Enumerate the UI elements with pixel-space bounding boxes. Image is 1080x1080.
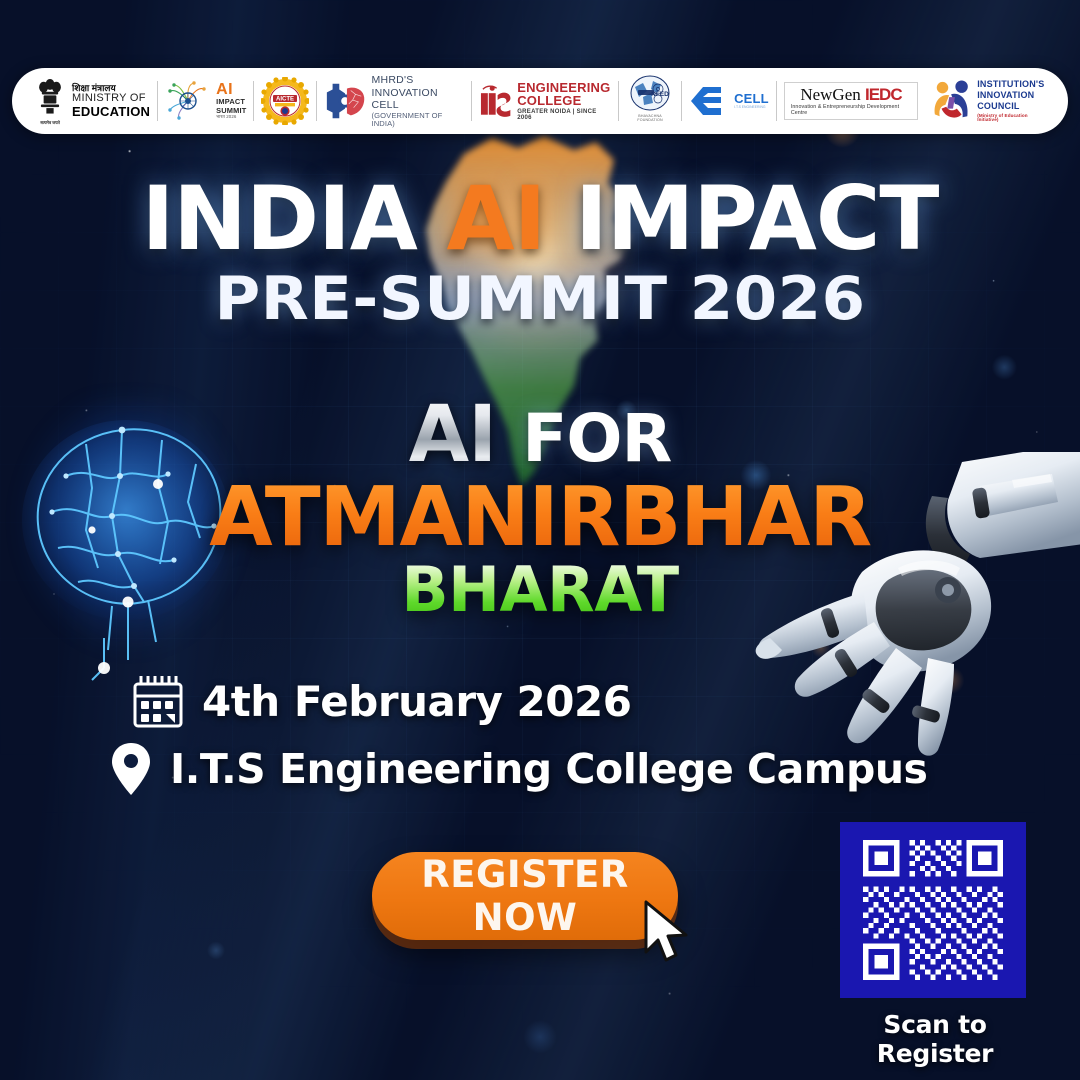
event-venue-row: I.T.S Engineering College Campus: [108, 740, 950, 798]
nfed-label: NFED: [651, 91, 669, 98]
emblem-motto: सत्यमेव जयते: [40, 120, 60, 126]
e-cell-icon: [689, 81, 729, 121]
its-mark-icon: [479, 81, 512, 121]
nfed-sub: BHAVACHNA FOUNDATION: [626, 114, 674, 122]
iic-line2: INNOVATION: [977, 90, 1047, 101]
iic-sub: (Ministry of Education Initiative): [977, 114, 1047, 124]
theme-ai: AI: [409, 390, 496, 480]
its-line3: GREATER NOIDA | SINCE 2006: [517, 109, 611, 121]
logo-ai-impact-summit: AI IMPACT SUMMIT भारत 2026: [158, 75, 253, 127]
mhrd-line1: MHRD'S: [372, 74, 464, 87]
aicte-gear-icon: AICTE: [261, 77, 309, 125]
mhrd-line3: (GOVERNMENT OF INDIA): [372, 112, 464, 128]
ais-hindi: भारत 2026: [216, 115, 246, 120]
its-line2: COLLEGE: [517, 94, 611, 107]
location-pin-icon: [108, 740, 154, 798]
headline-line2: PRE-SUMMIT 2026: [0, 264, 1080, 334]
logo-nfed: NFED BHAVACHNA FOUNDATION: [619, 75, 681, 127]
ecell-label: CELL: [734, 92, 769, 106]
its-line1: ENGINEERING: [517, 81, 611, 94]
headline-india: INDIA: [142, 167, 447, 270]
iic-figures-icon: [932, 79, 972, 123]
mhrd-line2: INNOVATION CELL: [372, 87, 464, 112]
event-venue: I.T.S Engineering College Campus: [170, 745, 927, 793]
moe-line1: MINISTRY OF: [72, 93, 150, 104]
ashoka-emblem-icon: सत्यमेव जयते: [33, 76, 67, 126]
newgen-word: NewGen: [800, 85, 865, 104]
iedc-word: IEDC: [865, 85, 902, 104]
newgen-sub: Innovation & Entrepreneurship Developmen…: [791, 104, 911, 116]
event-date-row: 4th February 2026: [130, 672, 950, 730]
logo-ministry-of-education: सत्यमेव जयते शिक्षा मंत्रालय MINISTRY OF…: [26, 75, 157, 127]
headline-line1: INDIA AI IMPACT: [0, 176, 1080, 262]
poster-headline: INDIA AI IMPACT PRE-SUMMIT 2026: [0, 176, 1080, 334]
logo-institutions-innovation-council: INSTITUTION'S INNOVATION COUNCIL (Minist…: [925, 75, 1054, 127]
event-poster: सत्यमेव जयते शिक्षा मंत्रालय MINISTRY OF…: [0, 0, 1080, 1080]
partner-logo-bar: सत्यमेव जयते शिक्षा मंत्रालय MINISTRY OF…: [12, 68, 1068, 134]
logo-newgen-iedc: NewGen IEDC Innovation & Entrepreneurshi…: [777, 75, 925, 127]
logo-mhrd-innovation-cell: MHRD'S INNOVATION CELL (GOVERNMENT OF IN…: [317, 75, 470, 127]
summit-chakra-icon: [165, 79, 211, 123]
qr-code-icon[interactable]: [840, 822, 1026, 998]
nfed-emblem-icon: NFED: [629, 75, 671, 113]
headline-ai: AI: [446, 167, 545, 270]
event-date: 4th February 2026: [202, 677, 631, 726]
iic-line3: COUNCIL: [977, 101, 1047, 112]
ais-ai: AI: [216, 82, 246, 98]
qr-caption: Scan to Register: [840, 1010, 1030, 1068]
ecell-sub: I.T.S ENGINEERING: [734, 106, 769, 110]
qr-register-block: Scan to Register: [840, 822, 1030, 1068]
iic-line1: INSTITUTION'S: [977, 79, 1047, 90]
headline-impact: IMPACT: [545, 167, 938, 270]
register-now-button[interactable]: REGISTER NOW: [372, 852, 678, 940]
moe-line2: EDUCATION: [72, 105, 150, 119]
calendar-icon: [130, 672, 186, 730]
logo-aicte: AICTE: [254, 75, 316, 127]
theme-for: FOR: [522, 400, 671, 477]
logo-its-engineering-college: ENGINEERING COLLEGE GREATER NOIDA | SINC…: [472, 75, 618, 127]
logo-e-cell: CELL I.T.S ENGINEERING: [682, 75, 776, 127]
register-cta: REGISTER NOW: [372, 852, 678, 940]
aicte-label: AICTE: [276, 97, 294, 103]
gear-brain-icon: [324, 80, 366, 122]
event-details: 4th February 2026 I.T.S Engineering Coll…: [130, 672, 950, 808]
